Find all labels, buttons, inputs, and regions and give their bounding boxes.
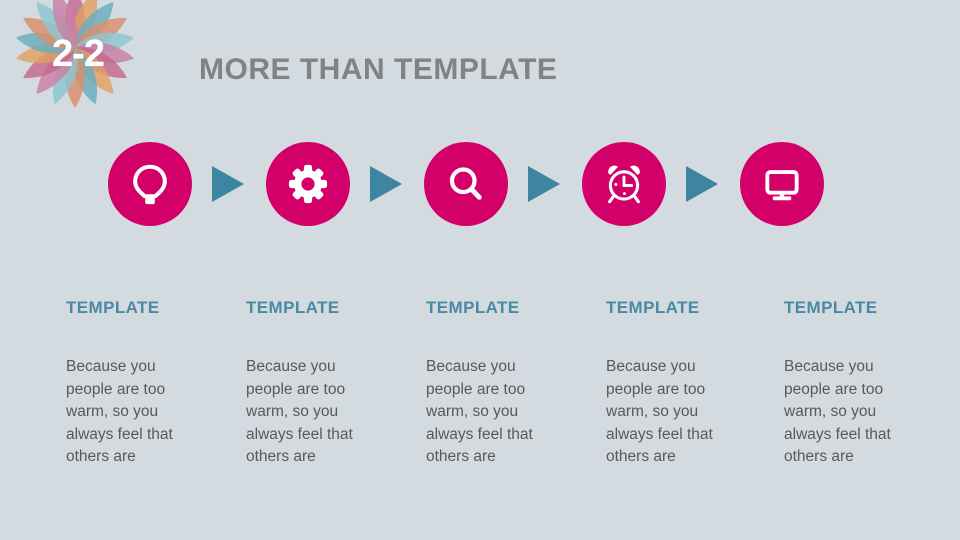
column-body-1: Because you people are too warm, so you … [66, 356, 206, 469]
flow-arrow-2 [370, 166, 402, 202]
page-title: MORE THAN TEMPLATE [199, 53, 557, 87]
description-columns: TEMPLATE Because you people are too warm… [0, 298, 960, 488]
logo-badge-number: 2-2 [0, 0, 150, 128]
flow-arrow-4 [686, 166, 718, 202]
gear-icon [286, 162, 330, 206]
column-body-2: Because you people are too warm, so you … [246, 356, 386, 469]
column-2: TEMPLATE Because you people are too warm… [246, 298, 406, 469]
step-icon-circle-4[interactable] [582, 142, 666, 226]
flow-arrow-3 [528, 166, 560, 202]
step-icon-circle-1[interactable] [108, 142, 192, 226]
column-body-3: Because you people are too warm, so you … [426, 356, 566, 469]
search-icon [444, 162, 488, 206]
column-heading-1: TEMPLATE [66, 298, 226, 318]
logo-block: 2-2 [0, 0, 150, 128]
alarm-clock-icon [601, 161, 647, 207]
step-icon-circle-2[interactable] [266, 142, 350, 226]
column-1: TEMPLATE Because you people are too warm… [66, 298, 226, 469]
step-icon-circle-5[interactable] [740, 142, 824, 226]
column-heading-4: TEMPLATE [606, 298, 766, 318]
step-icon-circle-3[interactable] [424, 142, 508, 226]
column-3: TEMPLATE Because you people are too warm… [426, 298, 586, 469]
monitor-icon [760, 162, 804, 206]
process-icon-row [0, 142, 960, 226]
column-heading-3: TEMPLATE [426, 298, 586, 318]
column-body-5: Because you people are too warm, so you … [784, 356, 924, 469]
column-body-4: Because you people are too warm, so you … [606, 356, 746, 469]
column-heading-2: TEMPLATE [246, 298, 406, 318]
column-5: TEMPLATE Because you people are too warm… [784, 298, 944, 469]
column-heading-5: TEMPLATE [784, 298, 944, 318]
flow-arrow-1 [212, 166, 244, 202]
column-4: TEMPLATE Because you people are too warm… [606, 298, 766, 469]
lightbulb-icon [127, 161, 173, 207]
